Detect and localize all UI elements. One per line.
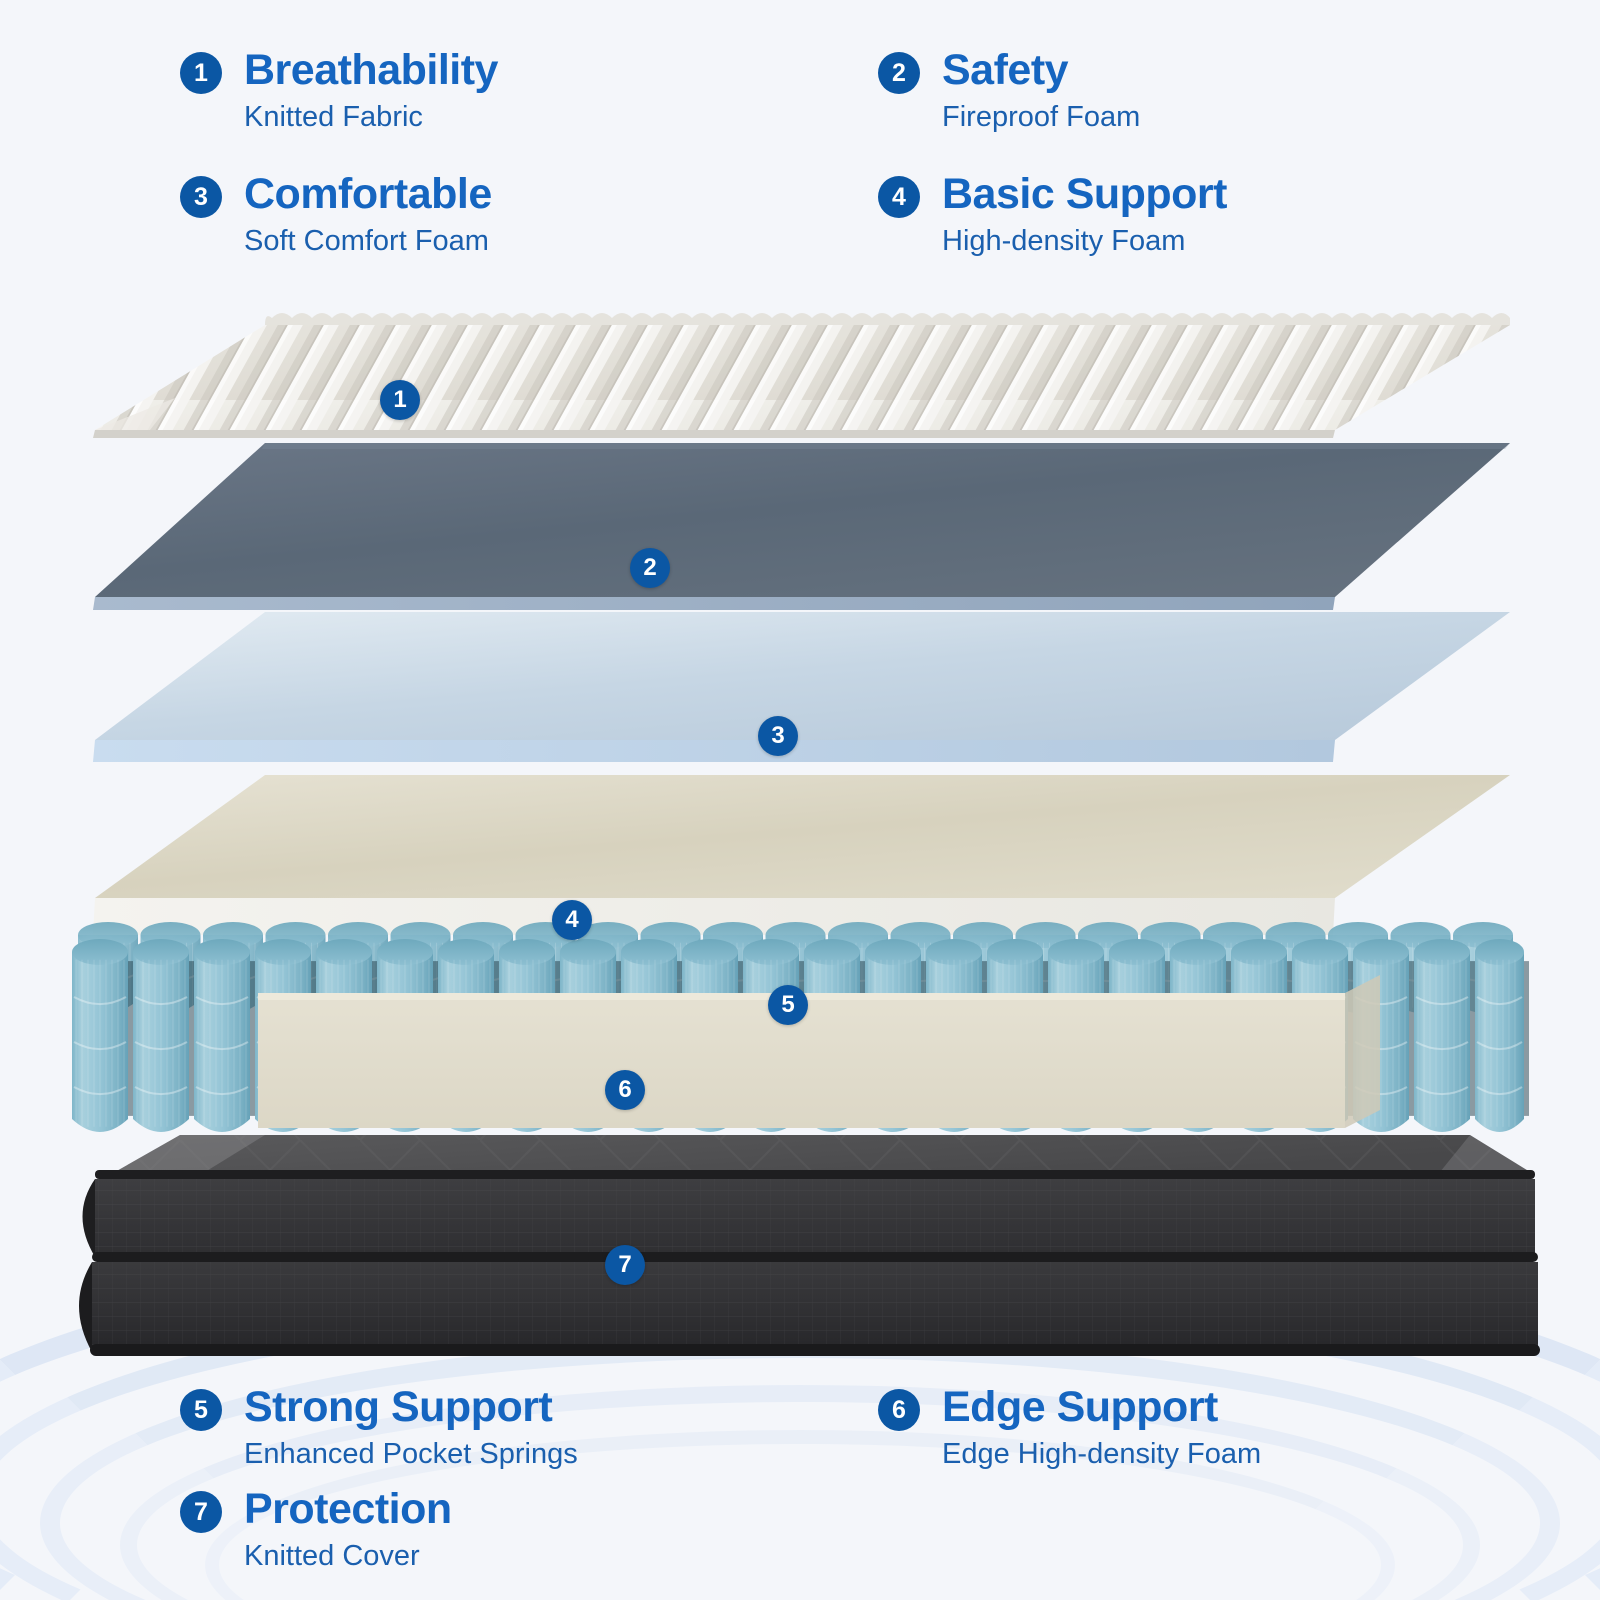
feature-title-1: Breathability (244, 48, 498, 93)
feature-safety: 2 Safety Fireproof Foam (878, 48, 1140, 135)
feature-badge-5: 5 (180, 1389, 222, 1431)
feature-edge-support: 6 Edge Support Edge High-density Foam (878, 1385, 1261, 1472)
layer-knitted-fabric-ribbed-top (93, 313, 1510, 438)
layer-marker-6: 6 (605, 1070, 645, 1110)
feature-subtitle-4: High-density Foam (942, 223, 1227, 259)
layer-marker-7: 7 (605, 1245, 645, 1285)
layer-edge-high-density-foam (258, 975, 1380, 1128)
feature-strong-support: 5 Strong Support Enhanced Pocket Springs (180, 1385, 578, 1472)
layer-fireproof-foam (93, 443, 1510, 610)
feature-comfortable: 3 Comfortable Soft Comfort Foam (180, 172, 492, 259)
layer-marker-4: 4 (552, 900, 592, 940)
feature-title-4: Basic Support (942, 172, 1227, 217)
feature-title-6: Edge Support (942, 1385, 1261, 1430)
feature-basic-support: 4 Basic Support High-density Foam (878, 172, 1227, 259)
layer-soft-comfort-foam (93, 612, 1510, 762)
feature-subtitle-1: Knitted Fabric (244, 99, 498, 135)
feature-breathability: 1 Breathability Knitted Fabric (180, 48, 498, 135)
feature-subtitle-7: Knitted Cover (244, 1538, 452, 1574)
feature-badge-4: 4 (878, 176, 920, 218)
layer-marker-3: 3 (758, 716, 798, 756)
layer-knitted-cover-base (79, 1135, 1540, 1356)
layer-marker-2: 2 (630, 548, 670, 588)
feature-badge-2: 2 (878, 52, 920, 94)
feature-subtitle-6: Edge High-density Foam (942, 1436, 1261, 1472)
layer-marker-1: 1 (380, 380, 420, 420)
layer-marker-5: 5 (768, 985, 808, 1025)
layer-high-density-foam (93, 775, 1510, 935)
feature-subtitle-5: Enhanced Pocket Springs (244, 1436, 578, 1472)
feature-badge-6: 6 (878, 1389, 920, 1431)
feature-title-3: Comfortable (244, 172, 492, 217)
feature-badge-1: 1 (180, 52, 222, 94)
feature-subtitle-2: Fireproof Foam (942, 99, 1140, 135)
feature-subtitle-3: Soft Comfort Foam (244, 223, 492, 259)
feature-title-7: Protection (244, 1487, 452, 1532)
feature-title-2: Safety (942, 48, 1140, 93)
feature-protection: 7 Protection Knitted Cover (180, 1487, 452, 1574)
feature-badge-3: 3 (180, 176, 222, 218)
feature-title-5: Strong Support (244, 1385, 578, 1430)
feature-badge-7: 7 (180, 1491, 222, 1533)
